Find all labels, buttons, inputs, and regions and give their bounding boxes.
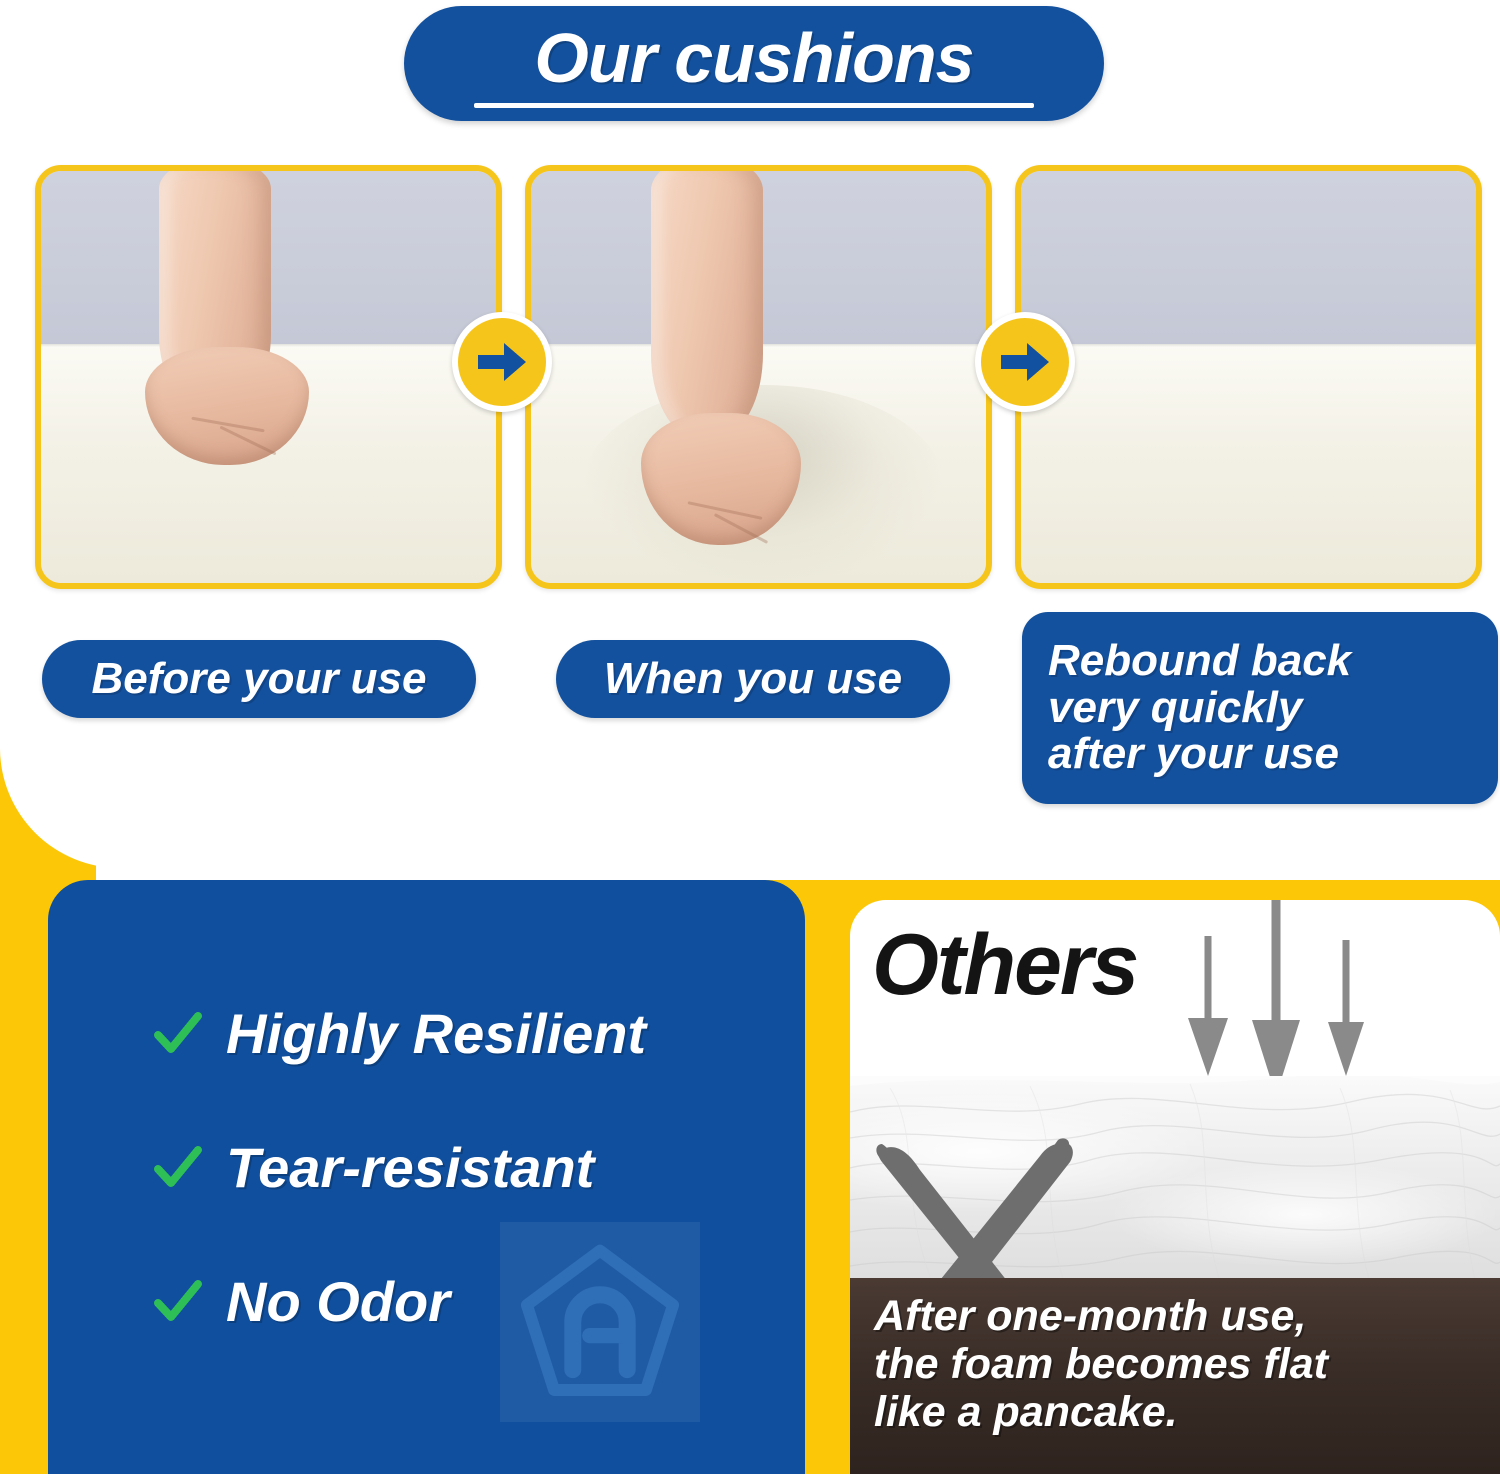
step-caption-label: Before your use (92, 656, 427, 703)
step-caption-before: Before your use (42, 640, 476, 718)
photo-foam-slab (1021, 344, 1476, 583)
step-caption-line-2: very quickly (1048, 683, 1302, 732)
photo-during (531, 171, 986, 583)
step-caption-line-1: Rebound back (1048, 636, 1351, 685)
step-caption-during: When you use (556, 640, 950, 718)
others-caption: After one-month use, the foam becomes fl… (874, 1292, 1480, 1436)
features-list: Highly Resilient Tear-resistant No Odor (48, 966, 805, 1368)
step-panels (0, 0, 1500, 620)
check-icon (152, 1141, 204, 1193)
others-title: Others (872, 922, 1137, 1008)
photo-foam-edge (1021, 344, 1476, 347)
step-caption-line-3: after your use (1048, 729, 1339, 778)
step-caption-rebound: Rebound back very quickly after your use (1022, 612, 1498, 804)
others-caption-line-2: the foam becomes flat (874, 1340, 1328, 1388)
photo-before (41, 171, 496, 583)
feature-item: Tear-resistant (48, 1100, 805, 1234)
check-icon (152, 1275, 204, 1327)
others-caption-line-1: After one-month use, (874, 1292, 1306, 1340)
feature-label: Highly Resilient (226, 1001, 646, 1066)
others-panel: Others (850, 900, 1500, 1474)
photo-rebound (1021, 171, 1476, 583)
step-photo-during (525, 165, 992, 589)
right-arrow-icon (975, 312, 1075, 412)
feature-item: Highly Resilient (48, 966, 805, 1100)
feature-item: No Odor (48, 1234, 805, 1368)
others-caption-line-3: like a pancake. (874, 1388, 1178, 1436)
check-icon (152, 1007, 204, 1059)
step-caption-label: When you use (604, 656, 902, 703)
step-photo-rebound (1015, 165, 1482, 589)
feature-label: Tear-resistant (226, 1135, 594, 1200)
photo-background-wall (1021, 171, 1476, 352)
feature-label: No Odor (226, 1269, 450, 1334)
infographic-root: Our cushions (0, 0, 1500, 1474)
others-caption-band: After one-month use, the foam becomes fl… (850, 1278, 1500, 1474)
hand-forearm (651, 165, 763, 437)
step-photo-before (35, 165, 502, 589)
right-arrow-icon (452, 312, 552, 412)
features-panel: Highly Resilient Tear-resistant No Odor (48, 880, 805, 1474)
